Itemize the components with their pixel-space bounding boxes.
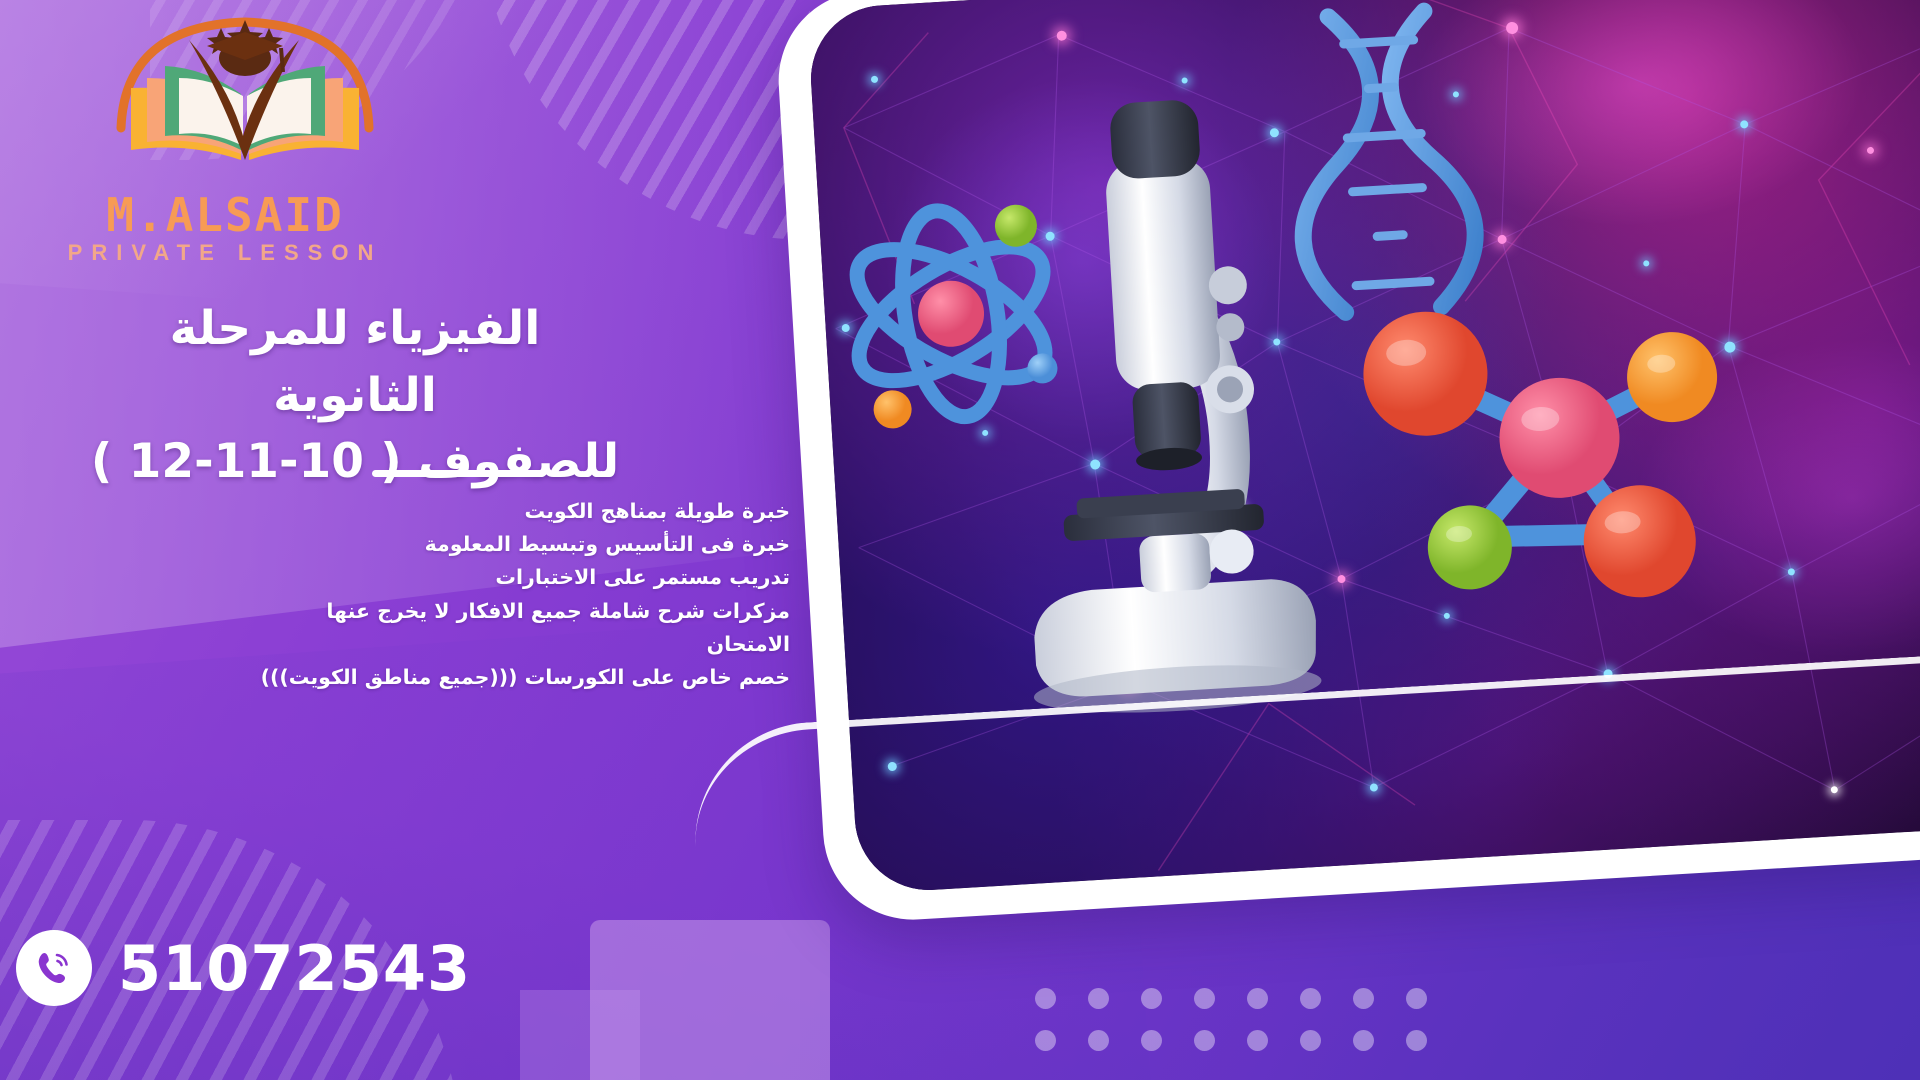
decorative-dot-grid [1035,988,1459,1072]
brand-tagline: PRIVATE LESSON [45,240,405,266]
feature-item: خبرة فى التأسيس وتبسيط المعلومة [170,528,790,561]
headline-line-1: الفيزياء للمرحلة الثانوية [85,296,625,429]
poster-canvas: M.ALSAID PRIVATE LESSON الفيزياء للمرحلة… [0,0,1920,1080]
feature-list: خبرة طويلة بمناهج الكويت خبرة فى التأسيس… [170,495,810,694]
headline-divider [372,470,544,477]
brand-logo [95,10,395,190]
graduate-book-logo-icon [95,10,395,190]
feature-item: تدريب مستمر على الاختبارات [170,561,790,594]
phone-number[interactable]: 51072543 [118,932,471,1005]
poster-content: M.ALSAID PRIVATE LESSON الفيزياء للمرحلة… [0,0,800,1080]
molecule-icon [1360,295,1730,613]
phone-call-icon[interactable] [16,930,92,1006]
contact-row[interactable]: 51072543 [16,930,471,1006]
brand-name: M.ALSAID [45,188,405,242]
feature-item: مزكرات شرح شاملة جميع الافكار لا يخرج عن… [170,595,790,628]
atom-icon [831,199,1070,431]
feature-item: خبرة طويلة بمناهج الكويت [170,495,790,528]
headline-line-2: للصفوف ( 10-11-12 ) [85,429,625,496]
feature-item: خصم خاص على الكورسات (((جميع مناطق الكوي… [170,661,790,694]
headline: الفيزياء للمرحلة الثانوية للصفوف ( 10-11… [85,296,625,496]
microscope-icon [999,93,1323,719]
dna-helix-icon [1290,9,1479,315]
feature-item: الامتحان [170,628,790,661]
